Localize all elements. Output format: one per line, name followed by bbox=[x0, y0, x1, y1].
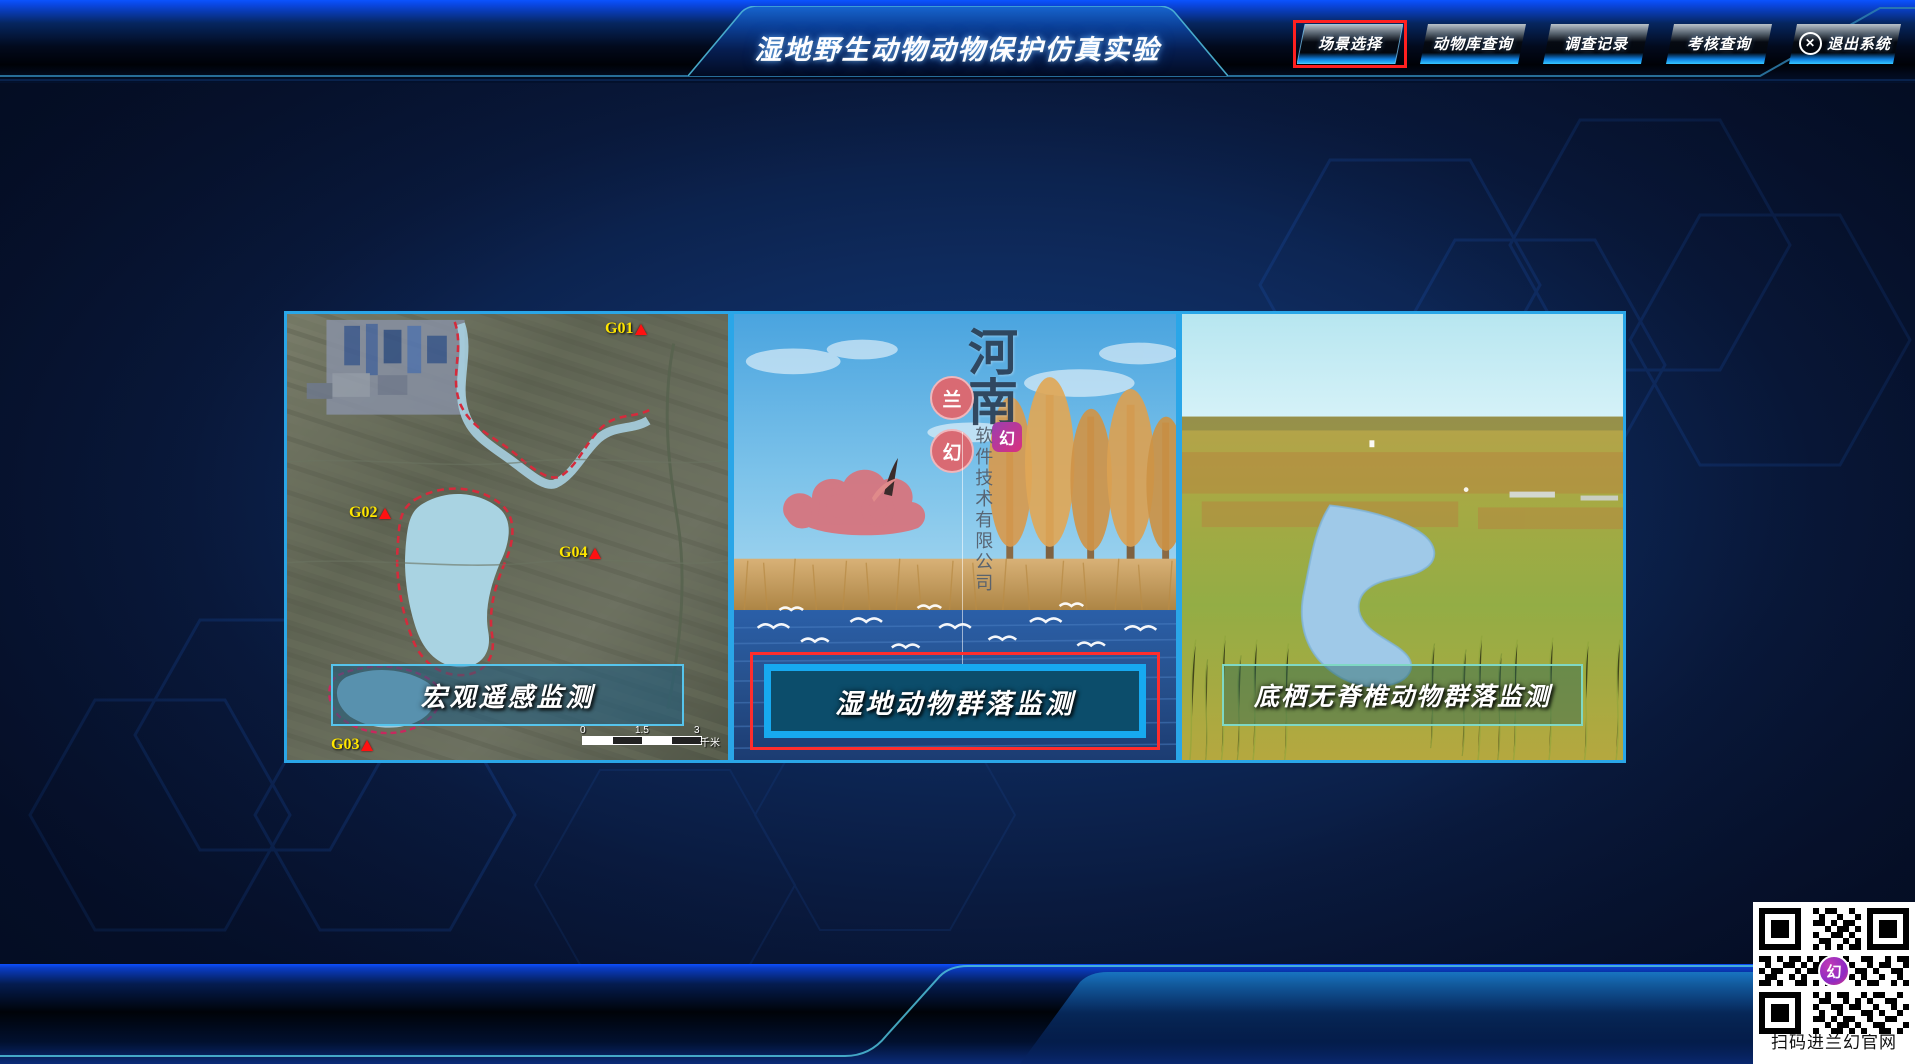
nav-item-scene-select-label: 场景选择 bbox=[1318, 33, 1382, 54]
qr-code-panel[interactable]: 幻 扫码进兰幻官网 bbox=[1753, 902, 1915, 1064]
marker-triangle-icon bbox=[361, 740, 373, 751]
exit-system-button[interactable]: ✕ 退出系统 bbox=[1789, 24, 1901, 64]
exit-button-wrapper[interactable]: ✕ 退出系统 bbox=[1785, 20, 1905, 68]
nav-item-assessment-query-wrapper[interactable]: 考核查询 bbox=[1662, 20, 1776, 68]
nav-item-scene-select[interactable]: 场景选择 bbox=[1297, 24, 1403, 64]
qr-caption: 扫码进兰幻官网 bbox=[1759, 1034, 1909, 1053]
lanhuan-logo-icon: 幻 bbox=[1818, 955, 1850, 987]
marker-triangle-icon bbox=[379, 508, 391, 519]
app-title-plate: 湿地野生动物动物保护仿真实验 bbox=[688, 6, 1228, 76]
scene-caption-benthic-invertebrate-community: 底栖无脊椎动物群落监测 bbox=[1222, 664, 1583, 726]
footer-swoosh-decoration bbox=[0, 964, 1915, 1064]
nav-item-scene-select-wrapper[interactable]: 场景选择 bbox=[1293, 20, 1407, 68]
scale-min: 0 bbox=[580, 725, 586, 736]
scene-card-macro-remote-sensing[interactable]: G01 G02 G03 G04 0 1.5 3 bbox=[284, 311, 731, 763]
map-scale-bar: 0 1.5 3 千米 bbox=[582, 725, 718, 751]
marker-triangle-icon bbox=[589, 548, 601, 559]
map-marker-G04: G04 bbox=[559, 544, 601, 562]
marker-triangle-icon bbox=[635, 324, 647, 335]
map-marker-G03: G03 bbox=[331, 736, 373, 754]
page-title: 湿地野生动物动物保护仿真实验 bbox=[688, 6, 1228, 76]
close-circle-icon: ✕ bbox=[1799, 32, 1822, 55]
scene-caption-macro-remote-sensing: 宏观遥感监测 bbox=[331, 664, 684, 726]
bottom-footer-bar bbox=[0, 964, 1915, 1064]
nav-item-assessment-query-label: 考核查询 bbox=[1687, 33, 1751, 54]
scene-card-list: G01 G02 G03 G04 0 1.5 3 bbox=[284, 311, 1626, 763]
nav-item-survey-records-wrapper[interactable]: 调查记录 bbox=[1539, 20, 1653, 68]
top-header-bar: 湿地野生动物动物保护仿真实验 bbox=[0, 0, 1915, 83]
scale-bar-ticks bbox=[582, 736, 702, 745]
scene-card-wetland-animal-community[interactable]: 河南 兰 幻 幻 软件技术有限公司 bbox=[731, 311, 1179, 763]
nav-item-assessment-query[interactable]: 考核查询 bbox=[1666, 24, 1772, 64]
nav-item-animal-library-query-wrapper[interactable]: 动物库查询 bbox=[1416, 20, 1530, 68]
scale-max: 3 bbox=[694, 725, 700, 736]
top-navigation: 场景选择 动物库查询 调查记录 bbox=[1293, 20, 1905, 68]
watermark-divider bbox=[962, 432, 963, 682]
nav-item-survey-records-label: 调查记录 bbox=[1564, 33, 1628, 54]
exit-system-label: 退出系统 bbox=[1827, 33, 1891, 54]
map-marker-G02: G02 bbox=[349, 504, 391, 522]
app-root: 湿地野生动物动物保护仿真实验 bbox=[0, 0, 1915, 1064]
scale-mid: 1.5 bbox=[635, 725, 649, 736]
scene-caption-wetland-animal-community: 湿地动物群落监测 bbox=[764, 664, 1146, 738]
map-marker-G01: G01 bbox=[605, 320, 647, 338]
scale-unit: 千米 bbox=[700, 734, 720, 749]
scene-card-benthic-invertebrate-community[interactable]: 底栖无脊椎动物群落监测 bbox=[1179, 311, 1626, 763]
nav-item-animal-library-query-label: 动物库查询 bbox=[1433, 33, 1513, 54]
nav-item-survey-records[interactable]: 调查记录 bbox=[1543, 24, 1649, 64]
nav-item-animal-library-query[interactable]: 动物库查询 bbox=[1420, 24, 1526, 64]
qr-code-image: 幻 bbox=[1759, 908, 1909, 1034]
